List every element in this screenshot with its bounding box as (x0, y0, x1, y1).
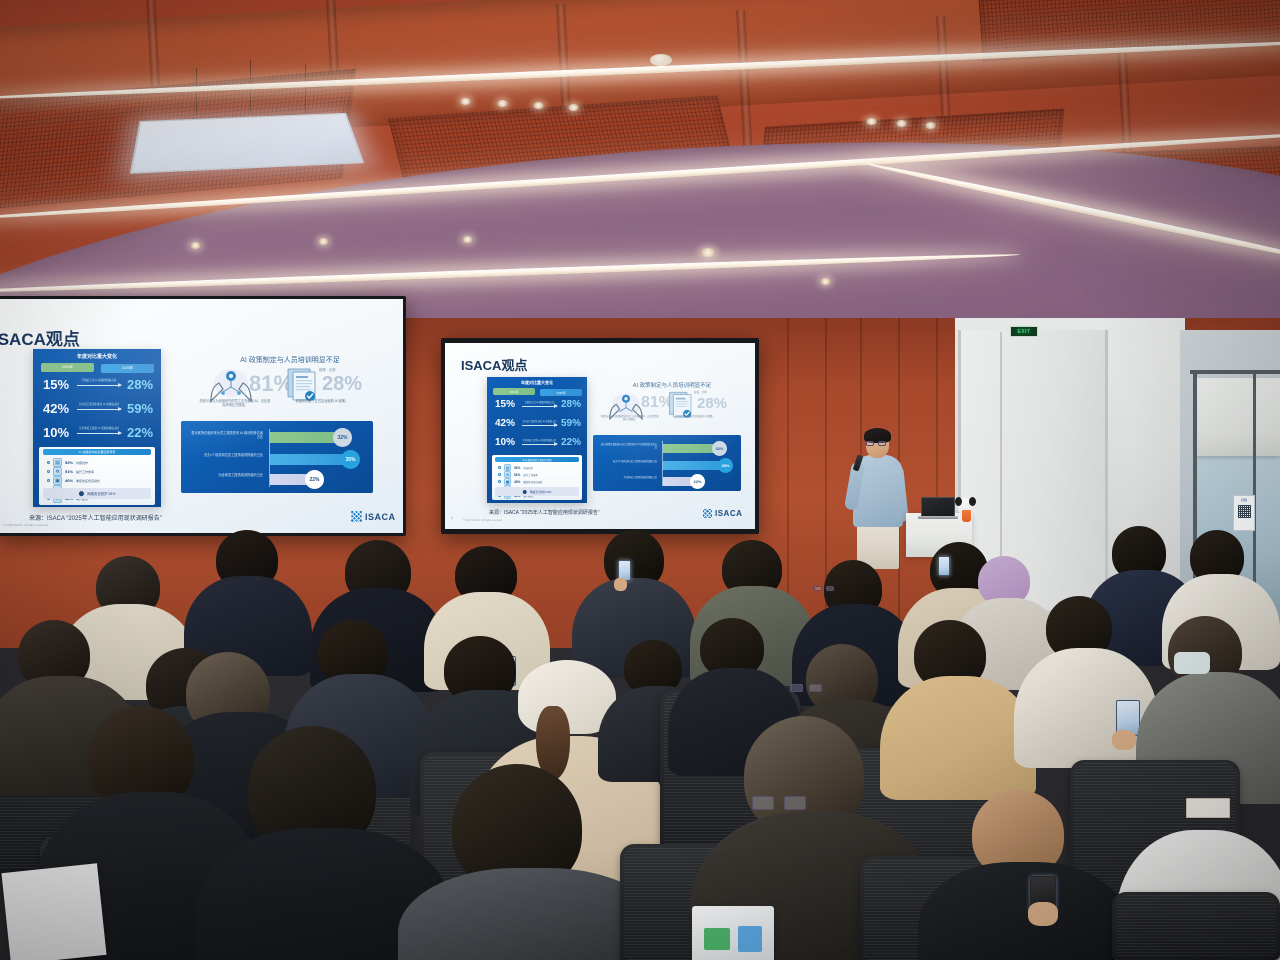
stat-2024-row-2: 10% (43, 425, 69, 440)
downlight (896, 120, 907, 127)
isaca-logo: ISACA (351, 511, 396, 522)
bar-value-1-b: 35% (718, 458, 733, 473)
stat-2024-row-1: 42% (43, 401, 69, 416)
slide-source-footer: 来源：ISACA “2025年人工智能应用现状调研报告” (29, 513, 162, 522)
list-item-pct: 52% (65, 460, 73, 465)
projection-screen-left: ISACA观点 年度对比重大变化 2024年 2025年 15% 已制定正式 A… (0, 296, 406, 536)
bar-category-1-b: 仅为 IT 相关岗位员工提供培训的组织占比 (599, 460, 657, 463)
stat-caption-row-1: 允许员工使用生成式 AI 的组织占比 (77, 402, 121, 406)
stat-81-caption: 的受访者认为其组织内的员工正在使用 AI，无论是否获得正式授权。 (199, 399, 271, 407)
list-item-label: 重复性任务自动化 (76, 479, 100, 483)
bar-value-0: 32% (333, 428, 352, 447)
year-pill-2025-b: 2025年 (540, 389, 582, 396)
year-pill-2024: 2024年 (41, 363, 94, 372)
training-bar-chart-2: 表示其所在组织未为员工提供任何 AI 培训的受访者占比 仅为 IT 相关岗位员工… (593, 435, 741, 491)
slide-right: ISACA观点 年度对比重大变化 2024年 2025年 15% 已制定正式 A… (445, 343, 755, 529)
year-pill-2024-b: 2024年 (493, 388, 535, 395)
qr-poster-title: 扫码 (1241, 498, 1247, 502)
stat-28-value-2: 28% (697, 395, 727, 412)
exit-sign-label: EXIT (1017, 329, 1030, 335)
clipboard-icon: ▣ (504, 478, 511, 485)
hand (1028, 902, 1058, 926)
handout-paper (1, 863, 106, 960)
list-item: ▣ 40% 重复性任务自动化 (498, 478, 543, 485)
stat-2025-row-2-b: 22% (561, 437, 581, 448)
tablet-device[interactable] (692, 906, 774, 960)
stat-2024-row-0-b: 15% (495, 399, 515, 410)
bar-value-2-b: 22% (690, 474, 705, 489)
shield-icon: ⬤ (79, 491, 85, 497)
bar-category-2-b: 为全体员工提供培训的组织占比 (599, 476, 657, 479)
isaca-mark-icon (703, 509, 712, 518)
usage-footer-note: ⬤ 网络安全防护 26% (43, 488, 151, 499)
card-heading: 年度对比重大变化 (33, 353, 161, 360)
downlight (568, 104, 579, 111)
shield-icon: ⬤ (523, 489, 527, 494)
gear-icon: ✲ (53, 467, 62, 476)
stat-2024-row-2-b: 10% (495, 437, 515, 448)
stat-2025-row-0-b: 28% (561, 399, 581, 410)
gear-icon: ✲ (504, 471, 511, 478)
window-blind[interactable] (1196, 378, 1280, 456)
isaca-logo-2: ISACA (703, 509, 742, 518)
year-pill-2025: 2025年 (101, 364, 154, 373)
training-bar-chart: 表示其所在组织未为员工提供任何 AI 培训的受访者占比 仅为 IT 相关岗位员工… (181, 421, 373, 493)
isaca-mark-icon (351, 511, 362, 522)
list-item-pct: 52% (514, 466, 520, 470)
downlight (497, 100, 508, 107)
downlight (925, 122, 936, 129)
downlight (533, 102, 544, 109)
chair (1112, 892, 1280, 960)
content-icon: ▤ (53, 458, 62, 467)
stat-28-caption-2: 的组织制定了正式且全面的 AI 政策。 (667, 415, 723, 418)
laptop-base (918, 516, 958, 519)
window-mullion (1190, 370, 1280, 374)
list-item-label: 重复性任务自动化 (523, 480, 542, 484)
stat-2024-row-0: 15% (43, 377, 69, 392)
stat-2025-row-0: 28% (127, 377, 153, 392)
stat-2025-row-2: 22% (127, 425, 153, 440)
downlight (190, 242, 201, 249)
downlight (318, 238, 329, 245)
clipboard-icon: ▣ (53, 476, 62, 485)
list-item-pct: 51% (514, 473, 520, 477)
stat-81-caption-2: 的受访者认为其组织内的员工正在使用 AI，无论是否获得正式授权。 (601, 415, 659, 421)
stat-caption-row-0-b: 已制定正式 AI 政策的组织占比 (522, 400, 557, 404)
bullet-icon (47, 479, 50, 482)
list-item-label: 提升工作效率 (76, 470, 94, 474)
tablet-screen-content (738, 926, 762, 952)
usage-footer-label: 网络安全防护 26% (530, 490, 551, 494)
list-item: ▤ 52% 内容创作 (47, 458, 88, 467)
page-title-2: ISACA观点 (461, 355, 527, 374)
list-item: ✲ 51% 提升工作效率 (47, 467, 94, 476)
bar-category-1: 仅为 IT 相关岗位员工提供培训的组织占比 (189, 453, 263, 457)
slide-copyright-2: © 2025 ISACA. All rights reserved. (463, 519, 503, 522)
bar-value-1: 35% (341, 450, 360, 469)
stat-caption-row-2: 为全体员工提供 AI 培训的组织占比 (77, 426, 121, 430)
stat-2025-row-1: 59% (127, 401, 153, 416)
slide-source-footer-2: 来源：ISACA “2025年人工智能应用现状调研报告” (489, 509, 600, 516)
stat-28-badge-2: 政策 · 合规 (694, 390, 707, 394)
orange-cup (962, 510, 971, 522)
hand (1112, 730, 1136, 750)
slide-page-number: 6 (451, 515, 453, 520)
downlight (460, 98, 471, 105)
list-item-pct: 40% (514, 480, 520, 484)
slide-copyright: © 2025 ISACA. All rights reserved. (3, 523, 49, 527)
downlight (462, 236, 473, 243)
qr-code-icon (1238, 505, 1251, 518)
list-item: ✲ 51% 提升工作效率 (498, 471, 538, 478)
bullet-icon (498, 466, 501, 469)
list-item: ▣ 40% 重复性任务自动化 (47, 476, 100, 485)
conference-room-photo: EXIT 扫码 ISACA观点 年度对比重大变化 2024年 2025年 15%… (0, 0, 1280, 960)
downlight (866, 118, 877, 125)
stat-caption-row-0: 已制定正式 AI 政策的组织占比 (77, 378, 121, 382)
policy-training-heading-2: AI 政策制定与人员培训明显不足 (597, 381, 747, 389)
isaca-logo-text: ISACA (365, 512, 396, 522)
bar-value-0-b: 32% (712, 441, 727, 456)
content-icon: ▤ (504, 464, 511, 471)
projection-screen-right: ISACA观点 年度对比重大变化 2024年 2025年 15% 已制定正式 A… (441, 338, 759, 534)
bar-category-2: 为全体员工提供培训的组织占比 (189, 473, 263, 477)
name-badge (1186, 798, 1230, 818)
light-hanging-wire (305, 64, 306, 120)
list-item-label: 内容创作 (523, 466, 533, 470)
bullet-icon (498, 473, 501, 476)
downlight (820, 278, 831, 285)
downlight (700, 248, 716, 257)
stat-28-badge: 政策 · 合规 (319, 367, 336, 372)
card-heading-2: 年度对比重大变化 (487, 380, 587, 386)
annual-comparison-card: 年度对比重大变化 2024年 2025年 15% 已制定正式 AI 政策的组织占… (33, 349, 161, 507)
list-item: ▤ 52% 内容创作 (498, 464, 533, 471)
usage-footer-note-2: ⬤ 网络安全防护 26% (495, 487, 579, 496)
list-item-pct: 40% (65, 478, 73, 483)
usage-list-heading: AI 在组织内的主要应用场景 (43, 449, 151, 455)
glasses-icon (866, 441, 887, 446)
bullet-icon (47, 470, 50, 473)
bullet-icon (498, 480, 501, 483)
stat-2025-row-1-b: 59% (561, 418, 581, 429)
tablet-screen-content (704, 928, 730, 950)
stat-2024-row-1-b: 42% (495, 418, 515, 429)
face-mask (1174, 652, 1210, 674)
slide-left: ISACA观点 年度对比重大变化 2024年 2025年 15% 已制定正式 A… (0, 299, 403, 533)
ceiling-panel-light (130, 113, 364, 174)
phone-screen (938, 556, 950, 576)
list-item-label: 提升工作效率 (523, 473, 537, 477)
hand (614, 578, 627, 591)
policy-training-heading: AI 政策制定与人员培训明显不足 (195, 355, 385, 365)
bullet-icon (47, 461, 50, 464)
stat-caption-row-2-b: 为全体员工提供 AI 培训的组织占比 (522, 438, 557, 442)
usage-list-heading-2: AI 在组织内的主要应用场景 (495, 457, 579, 462)
smoke-detector (650, 54, 672, 66)
plush-toy-ear (969, 497, 976, 506)
list-item-label: 内容创作 (76, 461, 88, 465)
usage-footer-label: 网络安全防护 26% (87, 491, 115, 496)
page-title: ISACA观点 (0, 325, 80, 350)
bar-value-2: 22% (305, 470, 324, 489)
stat-28-caption: 的组织制定了正式且全面的 AI 政策。 (287, 399, 357, 403)
bar-category-0: 表示其所在组织未为员工提供任何 AI 培训的受访者占比 (189, 431, 263, 439)
ceiling (0, 0, 1280, 330)
exit-sign: EXIT (1010, 326, 1038, 337)
bar-category-0-b: 表示其所在组织未为员工提供任何 AI 培训的受访者占比 (599, 443, 657, 449)
list-item-pct: 51% (65, 469, 73, 474)
qr-code-poster: 扫码 (1233, 495, 1255, 531)
stat-caption-row-1-b: 允许员工使用生成式 AI 的组织占比 (522, 419, 557, 423)
plush-toy-ear (955, 497, 962, 506)
laptop-screen[interactable] (921, 497, 955, 517)
stat-28-value: 28% (322, 373, 362, 396)
annual-comparison-card-2: 年度对比重大变化 2024年 2025年 15% 已制定正式 AI 政策的组织占… (487, 377, 587, 503)
isaca-logo-text: ISACA (715, 509, 742, 518)
